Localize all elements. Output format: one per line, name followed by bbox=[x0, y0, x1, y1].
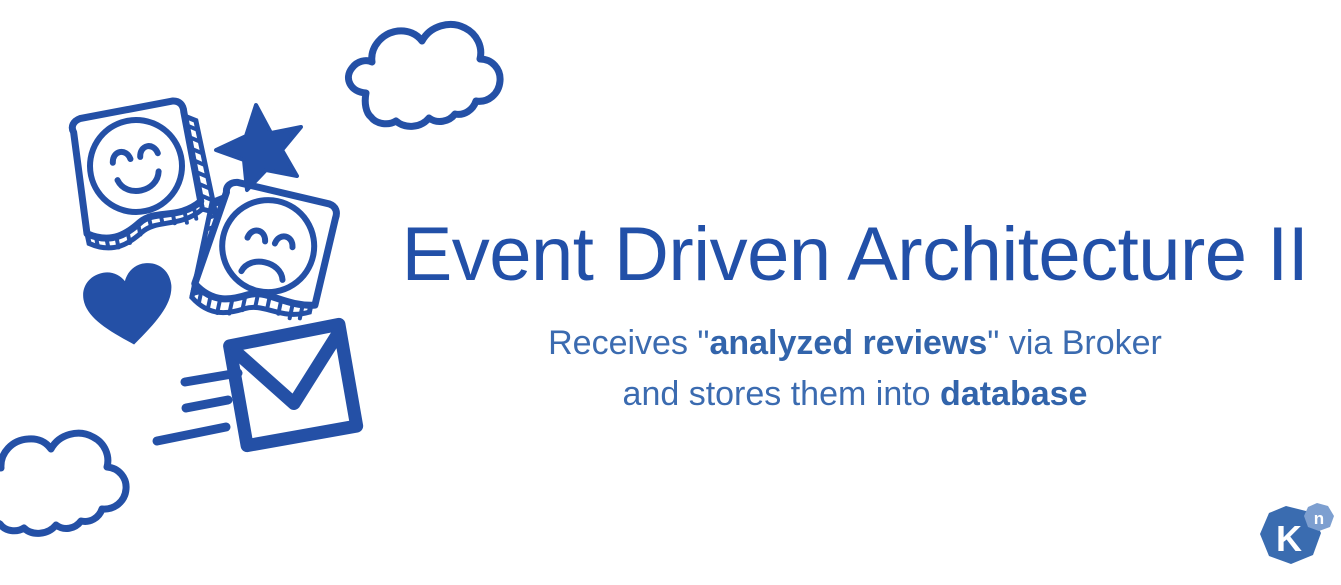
subtitle-line-1: Receives "analyzed reviews" via Broker bbox=[380, 318, 1330, 369]
slide-text-block: Event Driven Architecture II Receives "a… bbox=[380, 214, 1330, 420]
happy-face-card-icon bbox=[63, 95, 218, 253]
speed-lines-icon bbox=[157, 373, 238, 441]
subtitle-line-2: and stores them into database bbox=[380, 369, 1330, 420]
slide-subtitle: Receives "analyzed reviews" via Broker a… bbox=[380, 318, 1330, 420]
envelope-icon bbox=[229, 324, 358, 447]
logo-letter-k: K bbox=[1276, 518, 1302, 559]
subtitle-line-1-before: Receives " bbox=[548, 324, 709, 362]
brand-logo: K n bbox=[1249, 498, 1335, 578]
cloud-top-icon bbox=[348, 24, 500, 126]
logo-letter-n: n bbox=[1314, 509, 1324, 528]
heart-icon bbox=[79, 259, 180, 351]
sad-face-card-icon bbox=[190, 178, 339, 333]
subtitle-line-1-after: " via Broker bbox=[987, 324, 1162, 362]
star-icon bbox=[216, 105, 301, 190]
subtitle-line-1-bold: analyzed reviews bbox=[709, 324, 987, 362]
subtitle-line-2-bold: database bbox=[940, 375, 1087, 413]
slide-canvas: Event Driven Architecture II Receives "a… bbox=[0, 0, 1341, 585]
page-title: Event Driven Architecture II bbox=[380, 214, 1330, 296]
subtitle-line-2-before: and stores them into bbox=[623, 375, 941, 413]
cloud-bottom-left-icon bbox=[0, 433, 126, 533]
